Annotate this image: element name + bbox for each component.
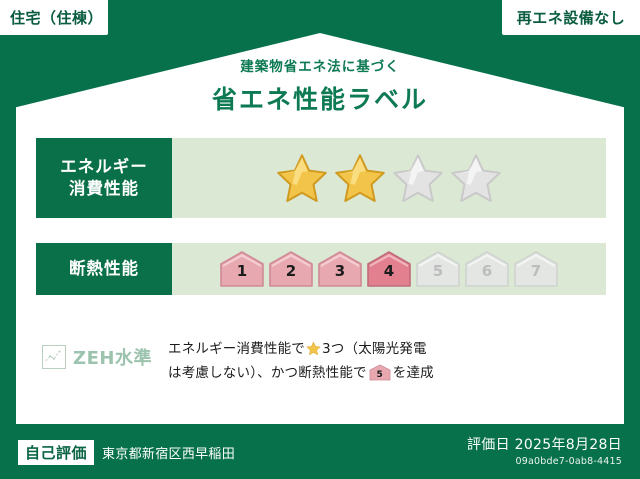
insulation-grade-number: 5: [415, 262, 461, 280]
insulation-grade-number: 2: [268, 262, 314, 280]
star-rating-panel: [172, 138, 606, 218]
zeh-desc-line2-post: を達成: [393, 365, 434, 381]
insulation-grade-4: 4: [366, 250, 412, 288]
insulation-grade-7: 7: [513, 250, 559, 288]
energy-performance-label: 住宅（住棟） 再エネ設備なし 建築物省エネ法に基づく 省エネ性能ラベル エネルギ…: [0, 0, 640, 479]
title-block: 建築物省エネ法に基づく 省エネ性能ラベル: [0, 55, 640, 116]
insulation-grade-3: 3: [317, 250, 363, 288]
insulation-performance-row: 断熱性能 1234567: [36, 243, 606, 295]
star-filled-icon: [276, 152, 328, 204]
house-type-badge: 住宅（住棟）: [0, 0, 108, 35]
insulation-grade-number: 6: [464, 262, 510, 280]
insulation-label: 断熱性能: [69, 258, 139, 280]
energy-performance-row: エネルギー 消費性能: [36, 138, 606, 218]
inline-star-icon: [306, 341, 321, 356]
zeh-description: エネルギー消費性能で 3つ（太陽光発電 は考慮しない）、かつ断熱性能で 5 を達…: [168, 336, 434, 385]
zeh-mark-icon: [42, 345, 66, 369]
star-empty-icon: [392, 152, 444, 204]
evaluation-date: 評価日 2025年8月28日: [467, 434, 622, 454]
energy-label-line2: 消費性能: [69, 178, 139, 200]
insulation-grade-number: 1: [219, 262, 265, 280]
insulation-grade-5: 5: [415, 250, 461, 288]
energy-performance-label-block: エネルギー 消費性能: [36, 138, 172, 218]
footer-right: 評価日 2025年8月28日 09a0bde7-0ab8-4415: [467, 434, 622, 467]
insulation-performance-label-block: 断熱性能: [36, 243, 172, 295]
zeh-desc-line2-pre: は考慮しない）、かつ断熱性能で: [168, 365, 367, 381]
star-filled-icon: [334, 152, 386, 204]
zeh-mark-label: ZEH水準: [73, 344, 152, 370]
zeh-desc-line1-pre: エネルギー消費性能で: [168, 341, 305, 357]
zeh-desc-line1-post: 3つ（太陽光発電: [322, 341, 427, 357]
self-assessment-badge: 自己評価: [18, 440, 94, 465]
inline-house-badge: 5: [369, 364, 391, 381]
insulation-grade-panel: 1234567: [172, 243, 606, 295]
insulation-grade-1: 1: [219, 250, 265, 288]
insulation-grade-number: 4: [366, 262, 412, 280]
footer-left: 自己評価 東京都新宿区西早稲田: [18, 440, 235, 465]
page-title: 省エネ性能ラベル: [0, 80, 640, 116]
label-subtitle: 建築物省エネ法に基づく: [0, 55, 640, 75]
insulation-grade-2: 2: [268, 250, 314, 288]
renewable-equipment-badge: 再エネ設備なし: [502, 0, 640, 35]
insulation-grade-number: 3: [317, 262, 363, 280]
star-empty-icon: [450, 152, 502, 204]
inline-house-number: 5: [369, 368, 391, 384]
energy-label-line1: エネルギー: [60, 156, 148, 178]
zeh-note-section: ZEH水準 エネルギー消費性能で 3つ（太陽光発電 は考慮しない）、かつ断熱性能…: [36, 336, 606, 385]
site-address: 東京都新宿区西早稲田: [102, 443, 235, 462]
insulation-grade-6: 6: [464, 250, 510, 288]
zeh-mark: ZEH水準: [36, 336, 158, 370]
insulation-grade-number: 7: [513, 262, 559, 280]
evaluation-id: 09a0bde7-0ab8-4415: [467, 456, 622, 467]
